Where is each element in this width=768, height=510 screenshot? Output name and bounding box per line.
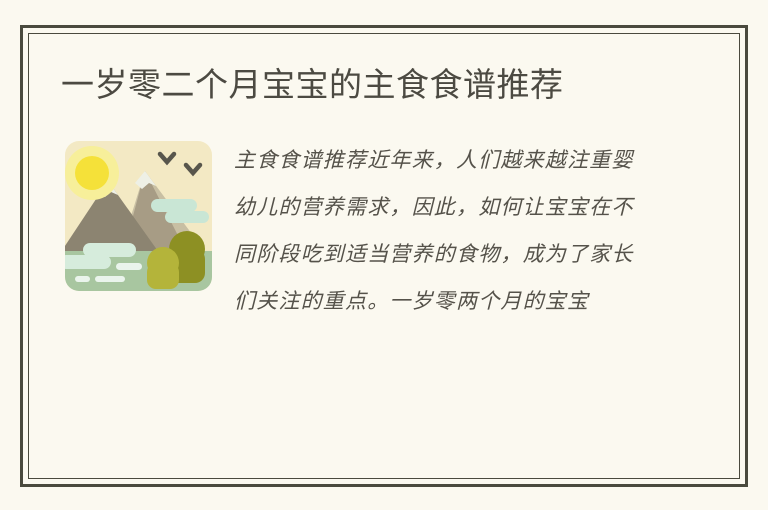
article-content-row: 主食食谱推荐近年来，人们越来越注重婴幼儿的营养需求，因此，如何让宝宝在不同阶段吃… (61, 133, 709, 325)
article-card: 一岁零二个月宝宝的主食食谱推荐 (29, 34, 739, 478)
card-outer-border: 一岁零二个月宝宝的主食食谱推荐 (20, 25, 748, 487)
article-excerpt-wrap: 主食食谱推荐近年来，人们越来越注重婴幼儿的营养需求，因此，如何让宝宝在不同阶段吃… (234, 133, 709, 325)
article-thumbnail[interactable] (61, 133, 216, 298)
page-root: 一岁零二个月宝宝的主食食谱推荐 (0, 0, 768, 510)
card-inner-border: 一岁零二个月宝宝的主食食谱推荐 (28, 33, 740, 479)
page-title: 一岁零二个月宝宝的主食食谱推荐 (61, 61, 621, 109)
article-excerpt: 主食食谱推荐近年来，人们越来越注重婴幼儿的营养需求，因此，如何让宝宝在不同阶段吃… (234, 137, 654, 325)
landscape-illustration-icon (61, 133, 216, 298)
